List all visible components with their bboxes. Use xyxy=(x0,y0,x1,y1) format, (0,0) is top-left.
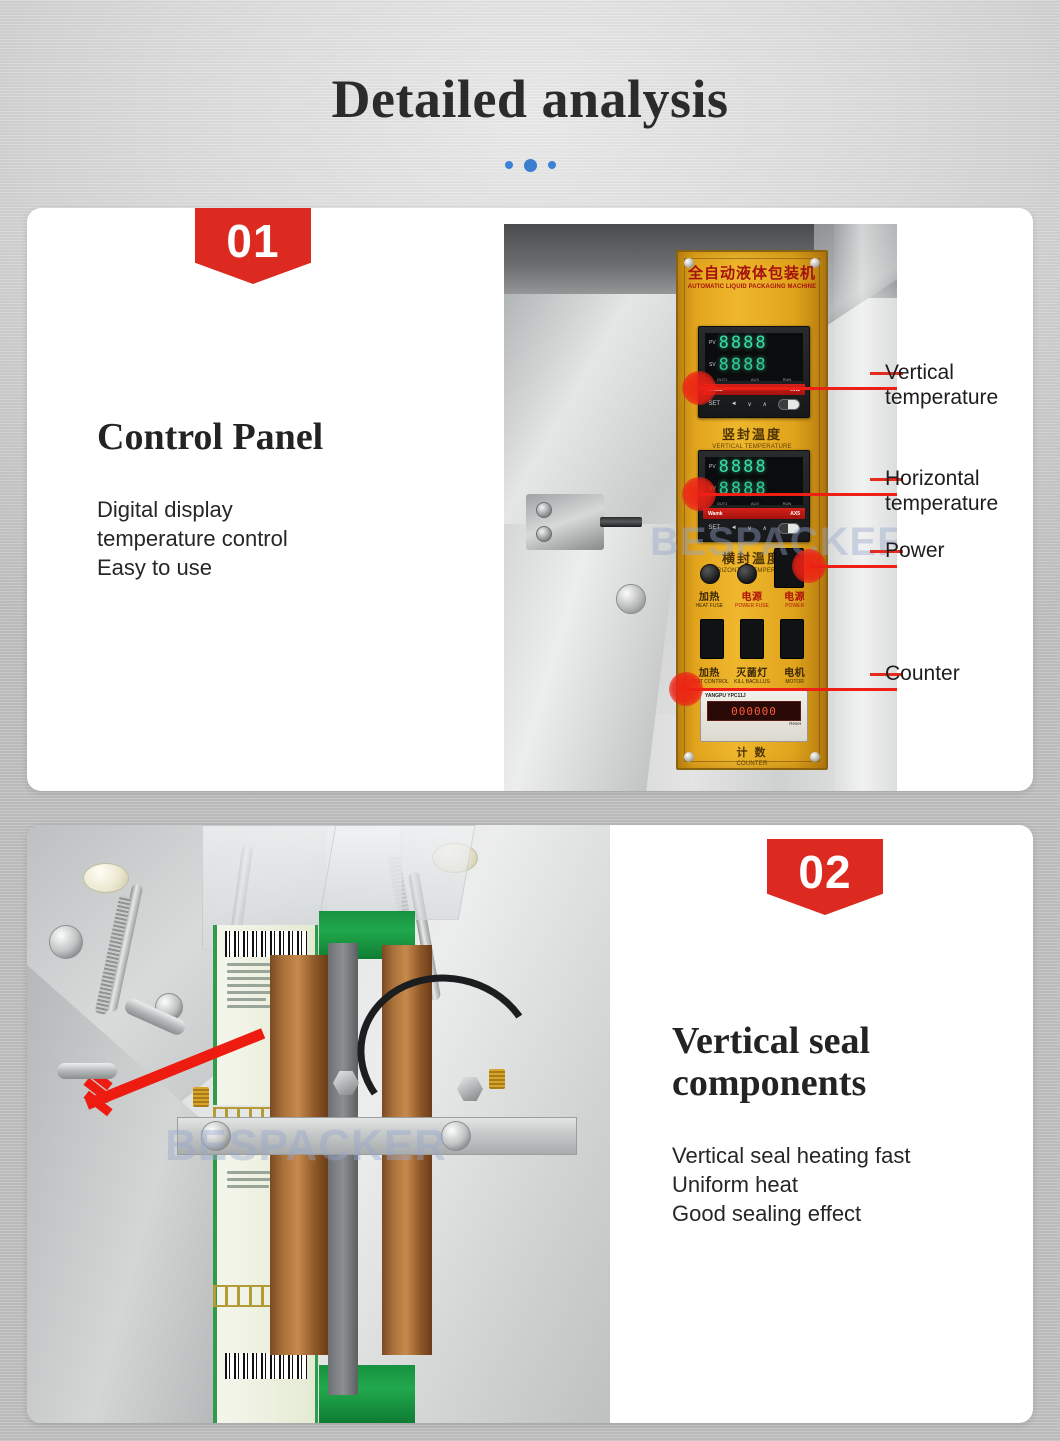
seal-roller-pin xyxy=(57,1063,117,1079)
section-body-2-line-3: Good sealing effect xyxy=(672,1199,1022,1228)
separator-dot-2 xyxy=(524,159,537,172)
page-header: Detailed analysis xyxy=(0,0,1060,172)
controller-brand-horizontal: Wamk xyxy=(708,511,723,517)
controller-model-horizontal: AX5 xyxy=(790,511,800,517)
motor-switch[interactable] xyxy=(780,619,804,659)
seal-jaw-lower xyxy=(328,1155,358,1395)
section-body-2: Vertical seal heating fast Uniform heat … xyxy=(672,1141,1022,1229)
controller-screen-vertical: PV 8888 SV 8888 OUT1 AUX RUN xyxy=(705,333,803,381)
sv-label-vertical: SV xyxy=(709,362,716,368)
counter-label-cn: 计 数 xyxy=(678,744,826,760)
section-text-vertical-seal: Vertical seal components Vertical seal h… xyxy=(672,825,1022,1423)
pv-value-horizontal: 8888 xyxy=(719,457,768,477)
callout-line-power xyxy=(810,565,897,568)
heat-fuse-button[interactable] xyxy=(700,564,720,584)
vertical-label-cn: 竖封温度 xyxy=(678,424,826,443)
kill-bacillus-switch[interactable] xyxy=(740,619,764,659)
controller-indicators-horizontal: OUT1 AUX RUN xyxy=(705,501,803,506)
pv-label-vertical: PV xyxy=(709,340,716,346)
counter-reset-button[interactable]: Reset xyxy=(701,721,807,726)
callout-label-vertical-temperature: Vertical temperature xyxy=(885,361,998,411)
section-body-2-line-2: Uniform heat xyxy=(672,1170,1022,1199)
section-card-vertical-seal: 02 xyxy=(27,825,1033,1423)
callout-line-horizontal-temperature xyxy=(700,493,897,496)
pv-value-vertical: 8888 xyxy=(719,333,768,353)
controller-screen-horizontal: PV 8888 SV 8888 OUT1 AUX RUN xyxy=(705,457,803,505)
section-heading-2: Vertical seal components xyxy=(672,1020,952,1105)
section-text-control-panel: Control Panel Digital display temperatur… xyxy=(97,208,487,791)
sv-value-vertical: 8888 xyxy=(719,355,768,375)
counter-brand: YANGPU xyxy=(705,693,726,699)
control-panel-photo: 全自动液体包装机 AUTOMATIC LIQUID PACKAGING MACH… xyxy=(504,224,897,791)
left-button-horizontal[interactable]: ◄ xyxy=(731,525,737,531)
separator-dot-3 xyxy=(548,161,556,169)
packaging-film-fold xyxy=(319,825,476,920)
panel-title-cn: 全自动液体包装机 xyxy=(678,262,826,283)
vertical-temperature-controller[interactable]: PV 8888 SV 8888 OUT1 AUX RUN Wamk A xyxy=(698,326,810,418)
controller-buttons-vertical[interactable]: SET ◄ ∨ ∧ xyxy=(703,395,805,413)
vertical-heater-upper xyxy=(270,955,328,1135)
counter-display: 000000 xyxy=(707,701,801,721)
panel-title: 全自动液体包装机 AUTOMATIC LIQUID PACKAGING MACH… xyxy=(678,262,826,290)
label-power-fuse: 电源 POWER FUSE xyxy=(731,588,773,609)
vertical-heater-lower-right xyxy=(382,1155,432,1355)
label-power: 电源 POWER xyxy=(774,588,816,609)
set-button-vertical[interactable]: SET xyxy=(708,401,720,407)
indicator-aux-v: AUX xyxy=(751,377,759,382)
indicator-aux-h: AUX xyxy=(751,501,759,506)
sv-value-horizontal: 8888 xyxy=(719,479,768,499)
switch-row[interactable] xyxy=(692,618,812,660)
up-button-horizontal[interactable]: ∧ xyxy=(762,525,766,532)
barcode-lower xyxy=(225,1353,307,1379)
left-button-vertical[interactable]: ◄ xyxy=(731,401,737,407)
separator-dot-1 xyxy=(505,161,513,169)
adjust-knob-left[interactable] xyxy=(83,863,129,893)
callout-label-counter: Counter xyxy=(885,662,960,687)
indicator-run-v: RUN xyxy=(783,377,792,382)
controller-brandbar-horizontal: Wamk AX5 xyxy=(703,508,805,519)
counter-display-value: 000000 xyxy=(731,705,777,718)
callout-line-vertical-temperature xyxy=(700,387,897,390)
pv-label-horizontal: PV xyxy=(709,464,716,470)
machine-rod xyxy=(600,517,642,527)
controller-knob-horizontal[interactable] xyxy=(778,523,800,534)
label-heat-fuse: 加热 HEAT FUSE xyxy=(688,588,730,609)
section-body-line-2: temperature control xyxy=(97,524,473,553)
callout-line-counter xyxy=(687,688,897,691)
section-heading: Control Panel xyxy=(97,416,473,459)
section-body-2-line-1: Vertical seal heating fast xyxy=(672,1141,1022,1170)
callout-label-horizontal-temperature: Horizontal temperature xyxy=(885,467,998,517)
switch-row-labels: 加热 HEAT CONTROL 灭菌灯 KILL BACILLUS 电机 MOT… xyxy=(688,664,816,685)
label-kill-bacillus: 灭菌灯 KILL BACILLUS xyxy=(731,664,773,685)
counter-brand-row: YANGPU YPC11J xyxy=(701,691,807,699)
indicator-run-h: RUN xyxy=(783,501,792,506)
indicator-out1-h: OUT1 xyxy=(717,501,728,506)
vertical-temperature-label: 竖封温度 VERTICAL TEMPERATURE xyxy=(678,424,826,450)
up-button-vertical[interactable]: ∧ xyxy=(762,401,766,408)
heat-control-switch[interactable] xyxy=(700,619,724,659)
machine-bracket xyxy=(526,494,604,550)
barcode-upper xyxy=(225,931,307,957)
down-button-vertical[interactable]: ∨ xyxy=(747,401,751,408)
vertical-seal-photo: BESPACKER xyxy=(27,825,610,1423)
section-body: Digital display temperature control Easy… xyxy=(97,495,473,583)
bracket-bolt-1 xyxy=(536,502,552,518)
indicator-out1-v: OUT1 xyxy=(717,377,728,382)
panel-title-en: AUTOMATIC LIQUID PACKAGING MACHINE xyxy=(678,284,826,290)
machine-large-bolt xyxy=(616,584,646,614)
down-button-horizontal[interactable]: ∨ xyxy=(747,525,751,532)
fuse-row-labels: 加热 HEAT FUSE 电源 POWER FUSE 电源 POWER xyxy=(688,588,816,609)
bracket-bolt-2 xyxy=(536,526,552,542)
counter-model: YPC11J xyxy=(727,693,745,699)
counter-module[interactable]: YANGPU YPC11J 000000 Reset xyxy=(700,690,808,742)
section-body-line-1: Digital display xyxy=(97,495,473,524)
label-motor: 电机 MOTOR xyxy=(774,664,816,685)
counter-label-en: COUNTER xyxy=(678,761,826,767)
dot-separator xyxy=(0,158,1060,172)
page-title: Detailed analysis xyxy=(0,72,1060,126)
controller-indicators-vertical: OUT1 AUX RUN xyxy=(705,377,803,382)
callout-label-power: Power xyxy=(885,539,945,564)
section-body-line-3: Easy to use xyxy=(97,553,473,582)
controller-buttons-horizontal[interactable]: SET ◄ ∨ ∧ xyxy=(703,519,805,537)
frame-bolt-left xyxy=(49,925,83,959)
counter-label: 计 数 COUNTER xyxy=(678,744,826,767)
section-card-control-panel: 01 Control Panel Digital display tempera… xyxy=(27,208,1033,791)
vertical-heater-lower xyxy=(270,1155,328,1355)
set-button-horizontal[interactable]: SET xyxy=(708,525,720,531)
power-fuse-button[interactable] xyxy=(737,564,757,584)
seal-jaw-upper xyxy=(328,943,358,1143)
controller-knob-vertical[interactable] xyxy=(778,399,800,410)
